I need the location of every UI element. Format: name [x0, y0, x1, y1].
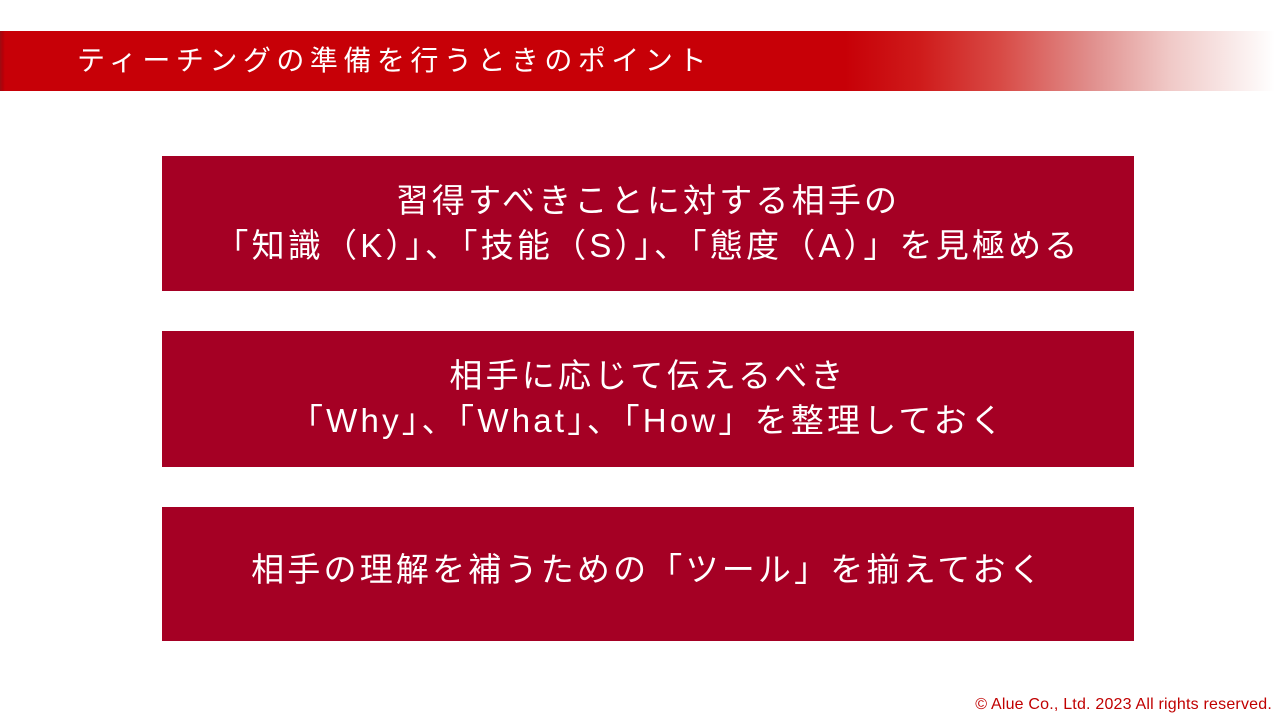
point-box-1-text: 習得すべきことに対する相手の 「知識（K）」、「技能（S）」、「態度（A）」を見… [215, 178, 1080, 270]
point-box-2: 相手に応じて伝えるべき 「Why」、「What」、「How」を整理しておく [162, 331, 1134, 467]
title-banner-left-edge [0, 31, 5, 91]
slide-canvas: ティーチングの準備を行うときのポイント 習得すべきことに対する相手の 「知識（K… [0, 0, 1280, 720]
point-box-3: 相手の理解を補うための「ツール」を揃えておく [162, 507, 1134, 641]
point-box-1: 習得すべきことに対する相手の 「知識（K）」、「技能（S）」、「態度（A）」を見… [162, 156, 1134, 291]
point-box-2-line-2: 「Why」、「What」、「How」を整理しておく [290, 398, 1006, 443]
copyright-footer: © Alue Co., Ltd. 2023 All rights reserve… [975, 696, 1272, 714]
point-box-2-text: 相手に応じて伝えるべき 「Why」、「What」、「How」を整理しておく [290, 353, 1006, 445]
point-box-1-line-1: 習得すべきことに対する相手の [215, 178, 1080, 223]
point-box-1-line-2: 「知識（K）」、「技能（S）」、「態度（A）」を見極める [215, 223, 1080, 268]
point-box-2-line-1: 相手に応じて伝えるべき [290, 353, 1006, 398]
point-box-3-line-1: 相手の理解を補うための「ツール」を揃えておく [251, 547, 1045, 592]
page-title: ティーチングの準備を行うときのポイント [77, 31, 712, 91]
point-box-3-text: 相手の理解を補うための「ツール」を揃えておく [251, 547, 1045, 602]
